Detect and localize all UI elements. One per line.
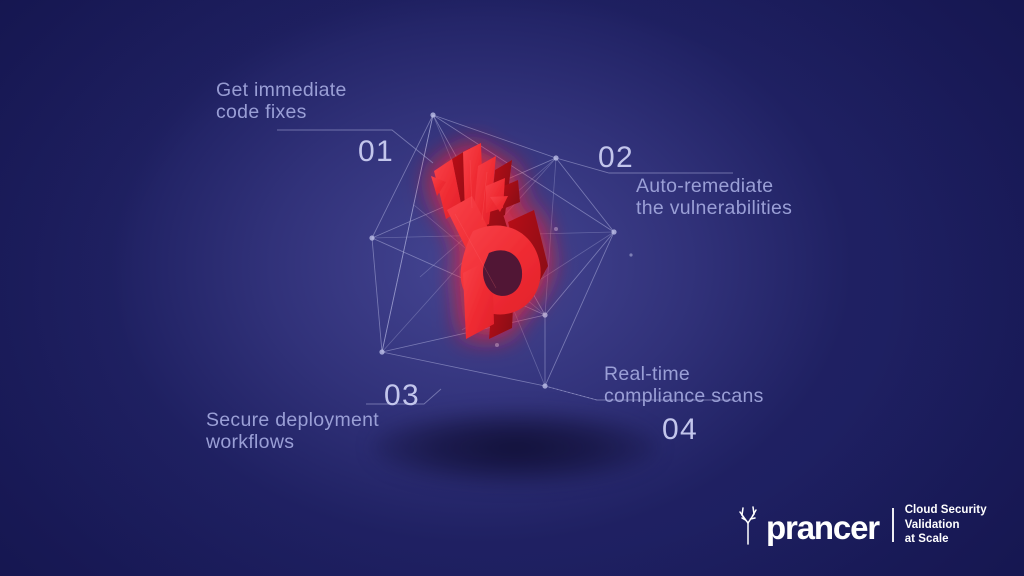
background-vignette: [0, 0, 1024, 576]
logo-divider: [892, 508, 894, 542]
prancer-logo-lockup: prancer Cloud Security Validation at Sca…: [739, 503, 1024, 545]
logo-tagline: Cloud Security Validation at Scale: [905, 503, 1024, 547]
logo-wordmark: prancer: [766, 511, 879, 544]
prancer-antler-icon: [739, 503, 765, 545]
slide-canvas: .wl { stroke:#9fa2d2; stroke-width:0.85;…: [0, 0, 1024, 576]
